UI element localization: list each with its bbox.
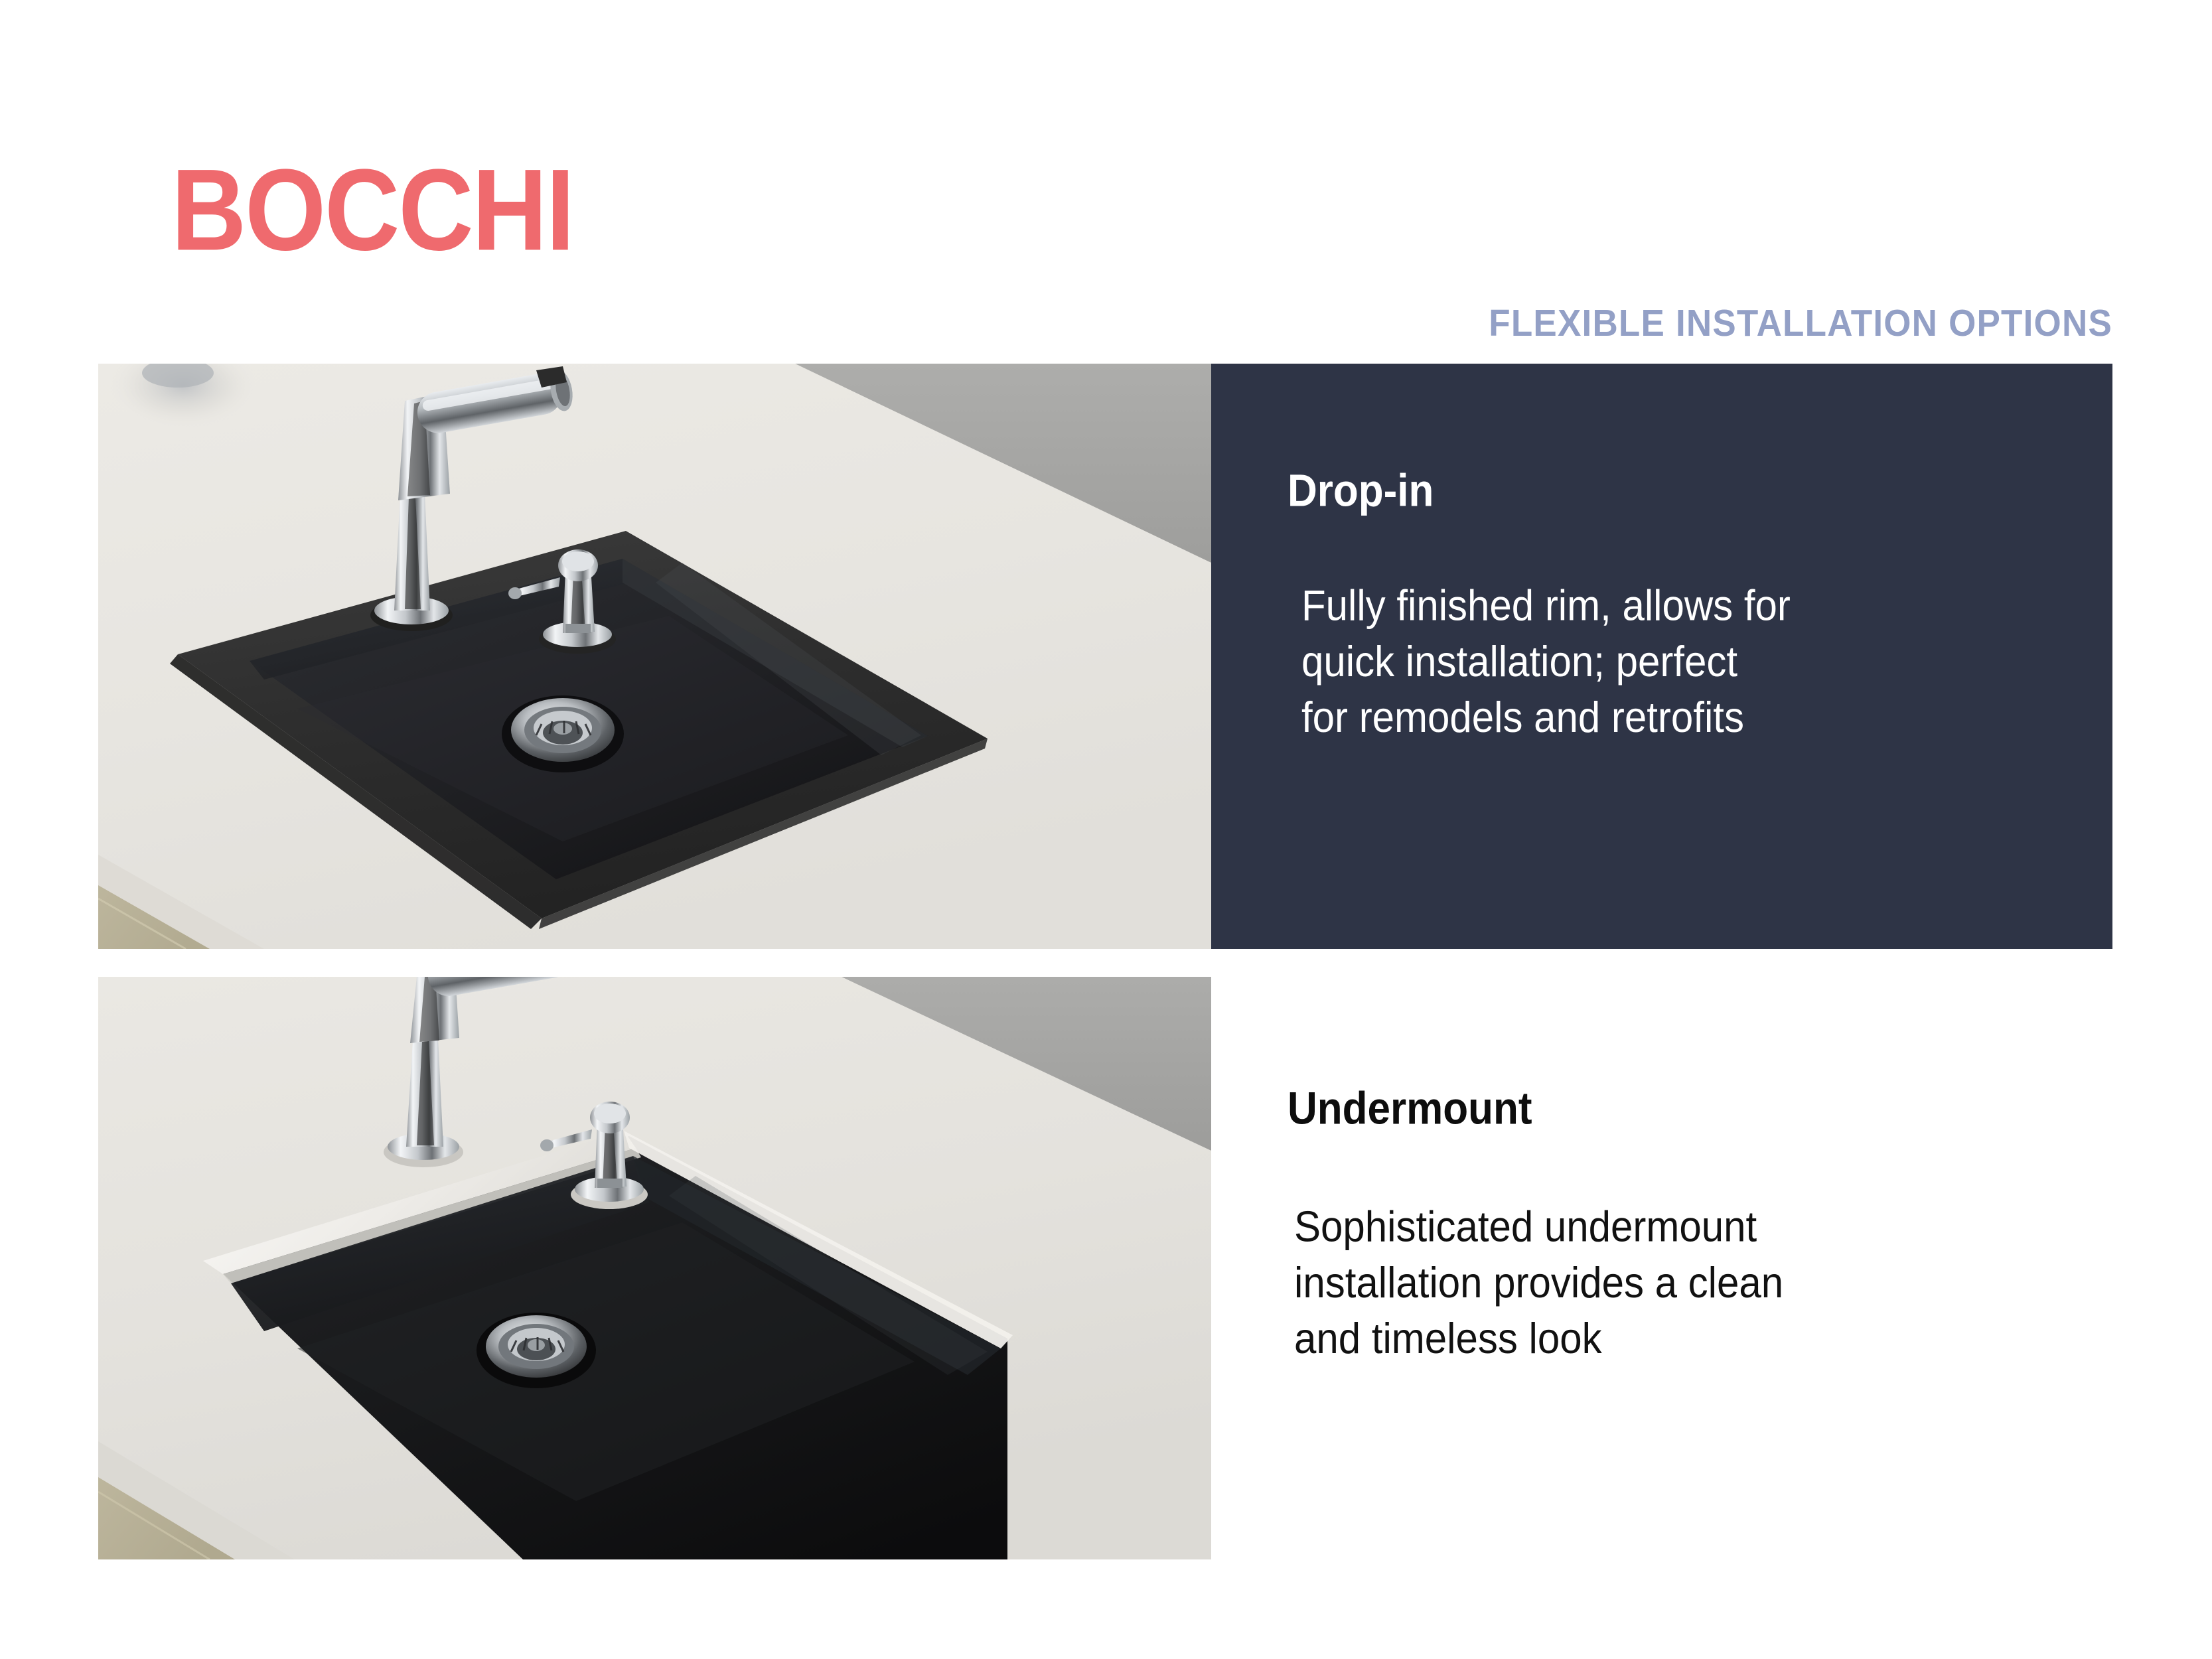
drop-in-description: Fully finished rim, allows for quick ins… (1301, 578, 2038, 746)
drop-in-callout-panel: Drop-in Fully finished rim, allows for q… (1211, 364, 2112, 949)
drain-strainer (477, 1313, 596, 1388)
drop-in-sink-photo (98, 364, 1211, 949)
drain-strainer (502, 695, 624, 772)
section-eyebrow-heading: FLEXIBLE INSTALLATION OPTIONS (1489, 302, 2112, 345)
brand-logo: BOCCHI (171, 153, 573, 269)
undermount-sink-photo (98, 977, 1211, 1559)
undermount-title: Undermount (1288, 1083, 1532, 1135)
undermount-sink-illustration (98, 977, 1211, 1559)
drop-in-sink-illustration (98, 364, 1211, 949)
undermount-description: Sophisticated undermount installation pr… (1294, 1199, 2077, 1367)
drop-in-title: Drop-in (1288, 465, 1434, 517)
undermount-callout-block: Undermount Sophisticated undermount inst… (1211, 977, 2112, 1559)
